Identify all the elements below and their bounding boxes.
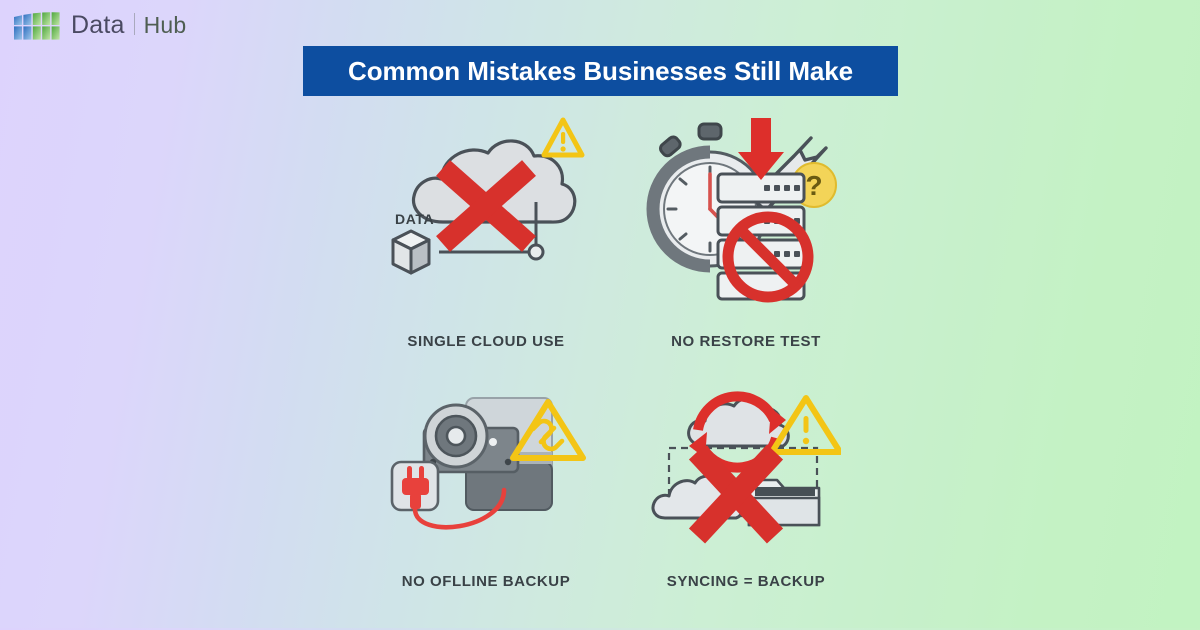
no-restore-test-illustration: ? (622, 112, 870, 330)
caption-cell-1: SINGLE CLOUD USE (350, 330, 622, 390)
svg-text:?: ? (805, 170, 822, 201)
syncing-equals-backup-illustration (622, 390, 870, 570)
caption-cell-3: NO OFLLINE BACKUP (350, 570, 622, 630)
card-label-syncing-equals-backup: SYNCING = BACKUP (622, 570, 870, 590)
data-cube-label: DATA (395, 211, 434, 227)
brand-logo[interactable]: Data Hub (14, 11, 186, 40)
card-label-no-restore-test: NO RESTORE TEST (622, 330, 870, 350)
card-no-restore-test[interactable]: ? (622, 112, 870, 330)
caption-cell-4: SYNCING = BACKUP (622, 570, 870, 630)
brand-name-secondary: Hub (144, 12, 187, 39)
caption-cell-2: NO RESTORE TEST (622, 330, 870, 390)
card-no-offline-backup[interactable] (350, 390, 622, 570)
single-cloud-use-illustration: DATA (350, 112, 622, 330)
no-offline-backup-illustration (350, 390, 622, 570)
brand-divider (134, 13, 135, 35)
warning-triangle-icon (544, 112, 582, 155)
mistakes-grid: DATA (350, 112, 870, 612)
grid-bars-logo-icon (14, 12, 60, 40)
card-label-no-offline-backup: NO OFLLINE BACKUP (350, 570, 622, 590)
title-banner: Common Mistakes Businesses Still Make (303, 46, 898, 96)
page-title: Common Mistakes Businesses Still Make (348, 56, 853, 87)
data-cube-icon (393, 231, 429, 273)
brand-name-primary: Data (71, 11, 125, 40)
card-single-cloud-use[interactable]: DATA (350, 112, 622, 330)
card-label-single-cloud-use: SINGLE CLOUD USE (350, 330, 622, 350)
tape-drive-icon (424, 398, 552, 510)
card-syncing-equals-backup[interactable] (622, 390, 870, 570)
